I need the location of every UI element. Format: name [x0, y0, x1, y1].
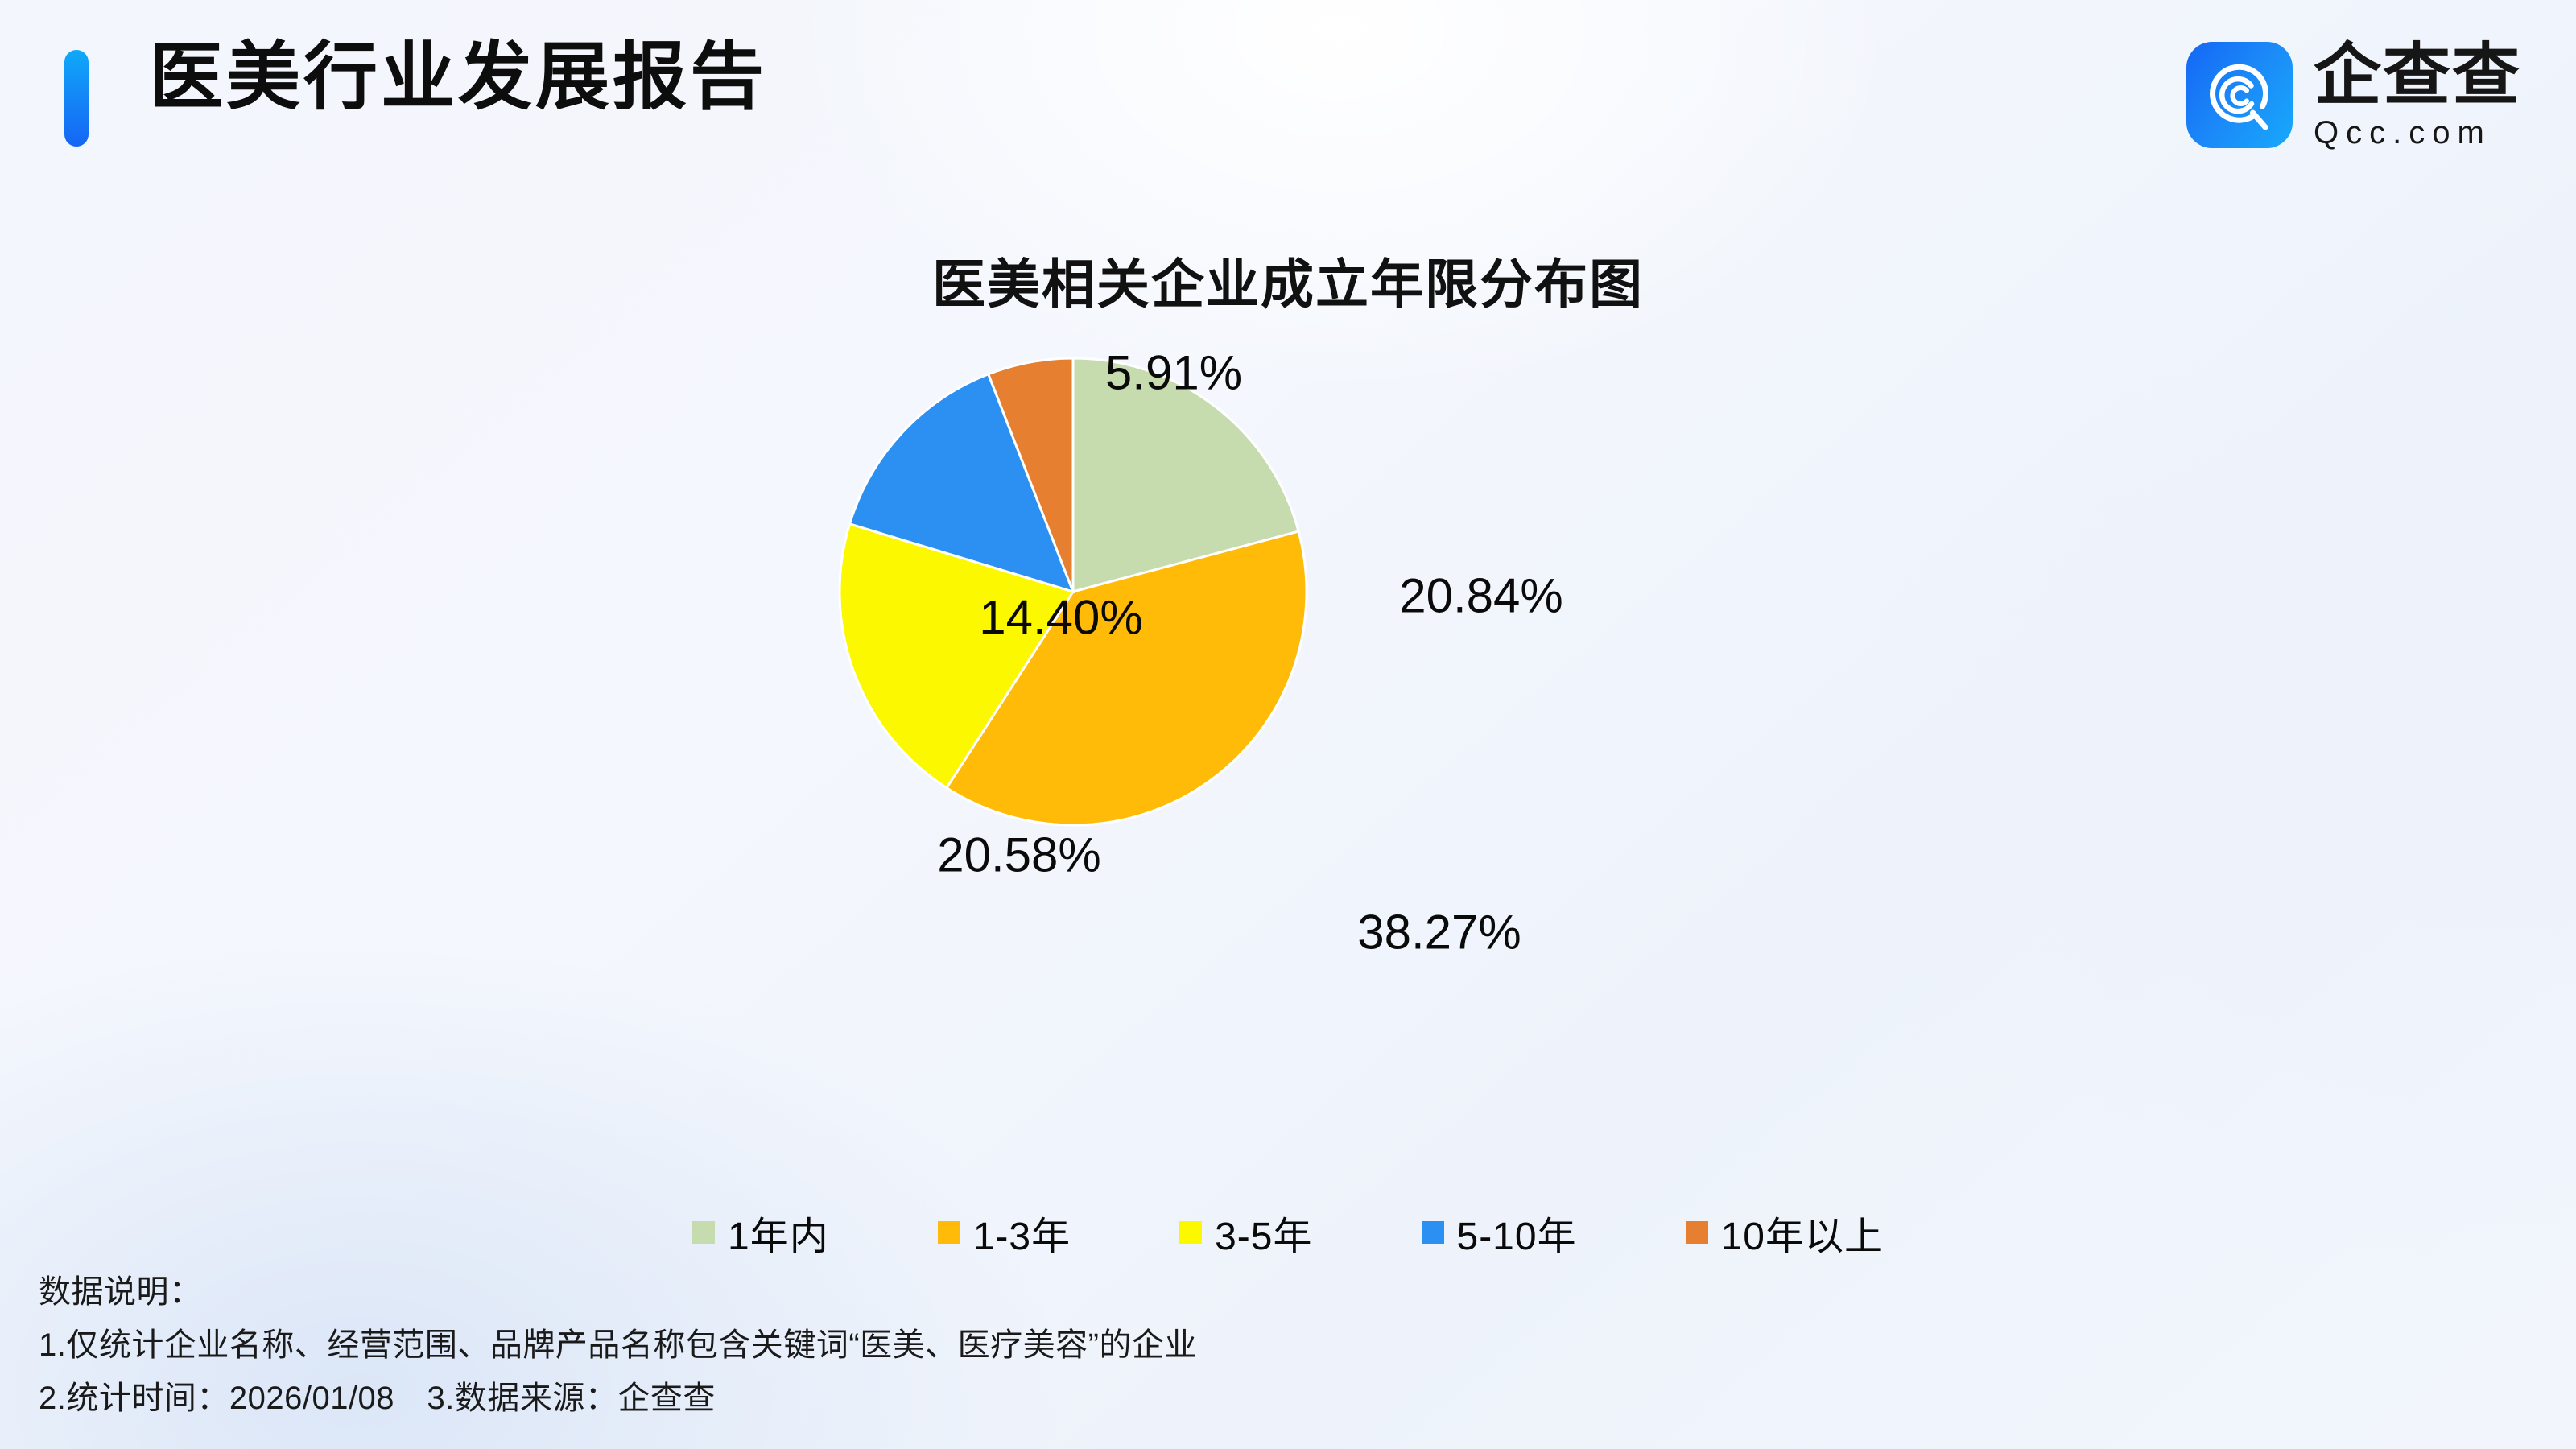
brand-name: 企查查 — [2314, 41, 2521, 109]
data-notes: 数据说明： 1.仅统计企业名称、经营范围、品牌产品名称包含关键词“医美、医疗美容… — [39, 1272, 1197, 1418]
legend-swatch — [1179, 1221, 1202, 1244]
legend-item-3-5年[interactable]: 3-5年 — [1179, 1204, 1312, 1261]
brand-domain: Qcc.com — [2314, 117, 2521, 149]
legend-swatch — [1422, 1221, 1444, 1244]
legend-label: 1-3年 — [973, 1204, 1071, 1261]
qcc-logo-icon — [2186, 42, 2293, 148]
brand-text: 企查查 Qcc.com — [2314, 41, 2521, 149]
legend-item-1-3年[interactable]: 1-3年 — [938, 1204, 1071, 1261]
pie-slice-label: 38.27% — [1357, 905, 1521, 960]
legend-item-1年内[interactable]: 1年内 — [692, 1204, 829, 1261]
brand-logo: 企查查 Qcc.com — [2186, 42, 2521, 148]
legend-swatch — [692, 1221, 715, 1244]
notes-heading: 数据说明： — [39, 1272, 1197, 1312]
page-title: 医美行业发展报告 — [149, 35, 767, 121]
pie-slice-label: 5.91% — [1105, 345, 1242, 401]
legend-label: 1年内 — [728, 1204, 829, 1261]
note-line-2: 2.统计时间：2026/01/08 3.数据来源：企查查 — [39, 1378, 1197, 1418]
note-line-1: 1.仅统计企业名称、经营范围、品牌产品名称包含关键词“医美、医疗美容”的企业 — [39, 1325, 1197, 1365]
legend-swatch — [1686, 1221, 1708, 1244]
legend-swatch — [938, 1221, 960, 1244]
legend-label: 5-10年 — [1457, 1204, 1577, 1261]
legend-item-10年以上[interactable]: 10年以上 — [1686, 1204, 1884, 1261]
chart-legend: 1年内1-3年3-5年5-10年10年以上 — [0, 1204, 2576, 1261]
chart-title: 医美相关企业成立年限分布图 — [0, 242, 2576, 319]
legend-label: 3-5年 — [1215, 1204, 1312, 1261]
pie-slice-label: 14.40% — [979, 590, 1143, 646]
legend-item-5-10年[interactable]: 5-10年 — [1422, 1204, 1577, 1261]
title-accent-bar — [64, 50, 89, 147]
pie-slice-label: 20.58% — [937, 828, 1101, 883]
legend-label: 10年以上 — [1721, 1204, 1884, 1261]
page-header: 医美行业发展报告 企查查 Qcc.com — [0, 0, 2576, 185]
pie-slice-label: 20.84% — [1399, 568, 1563, 624]
